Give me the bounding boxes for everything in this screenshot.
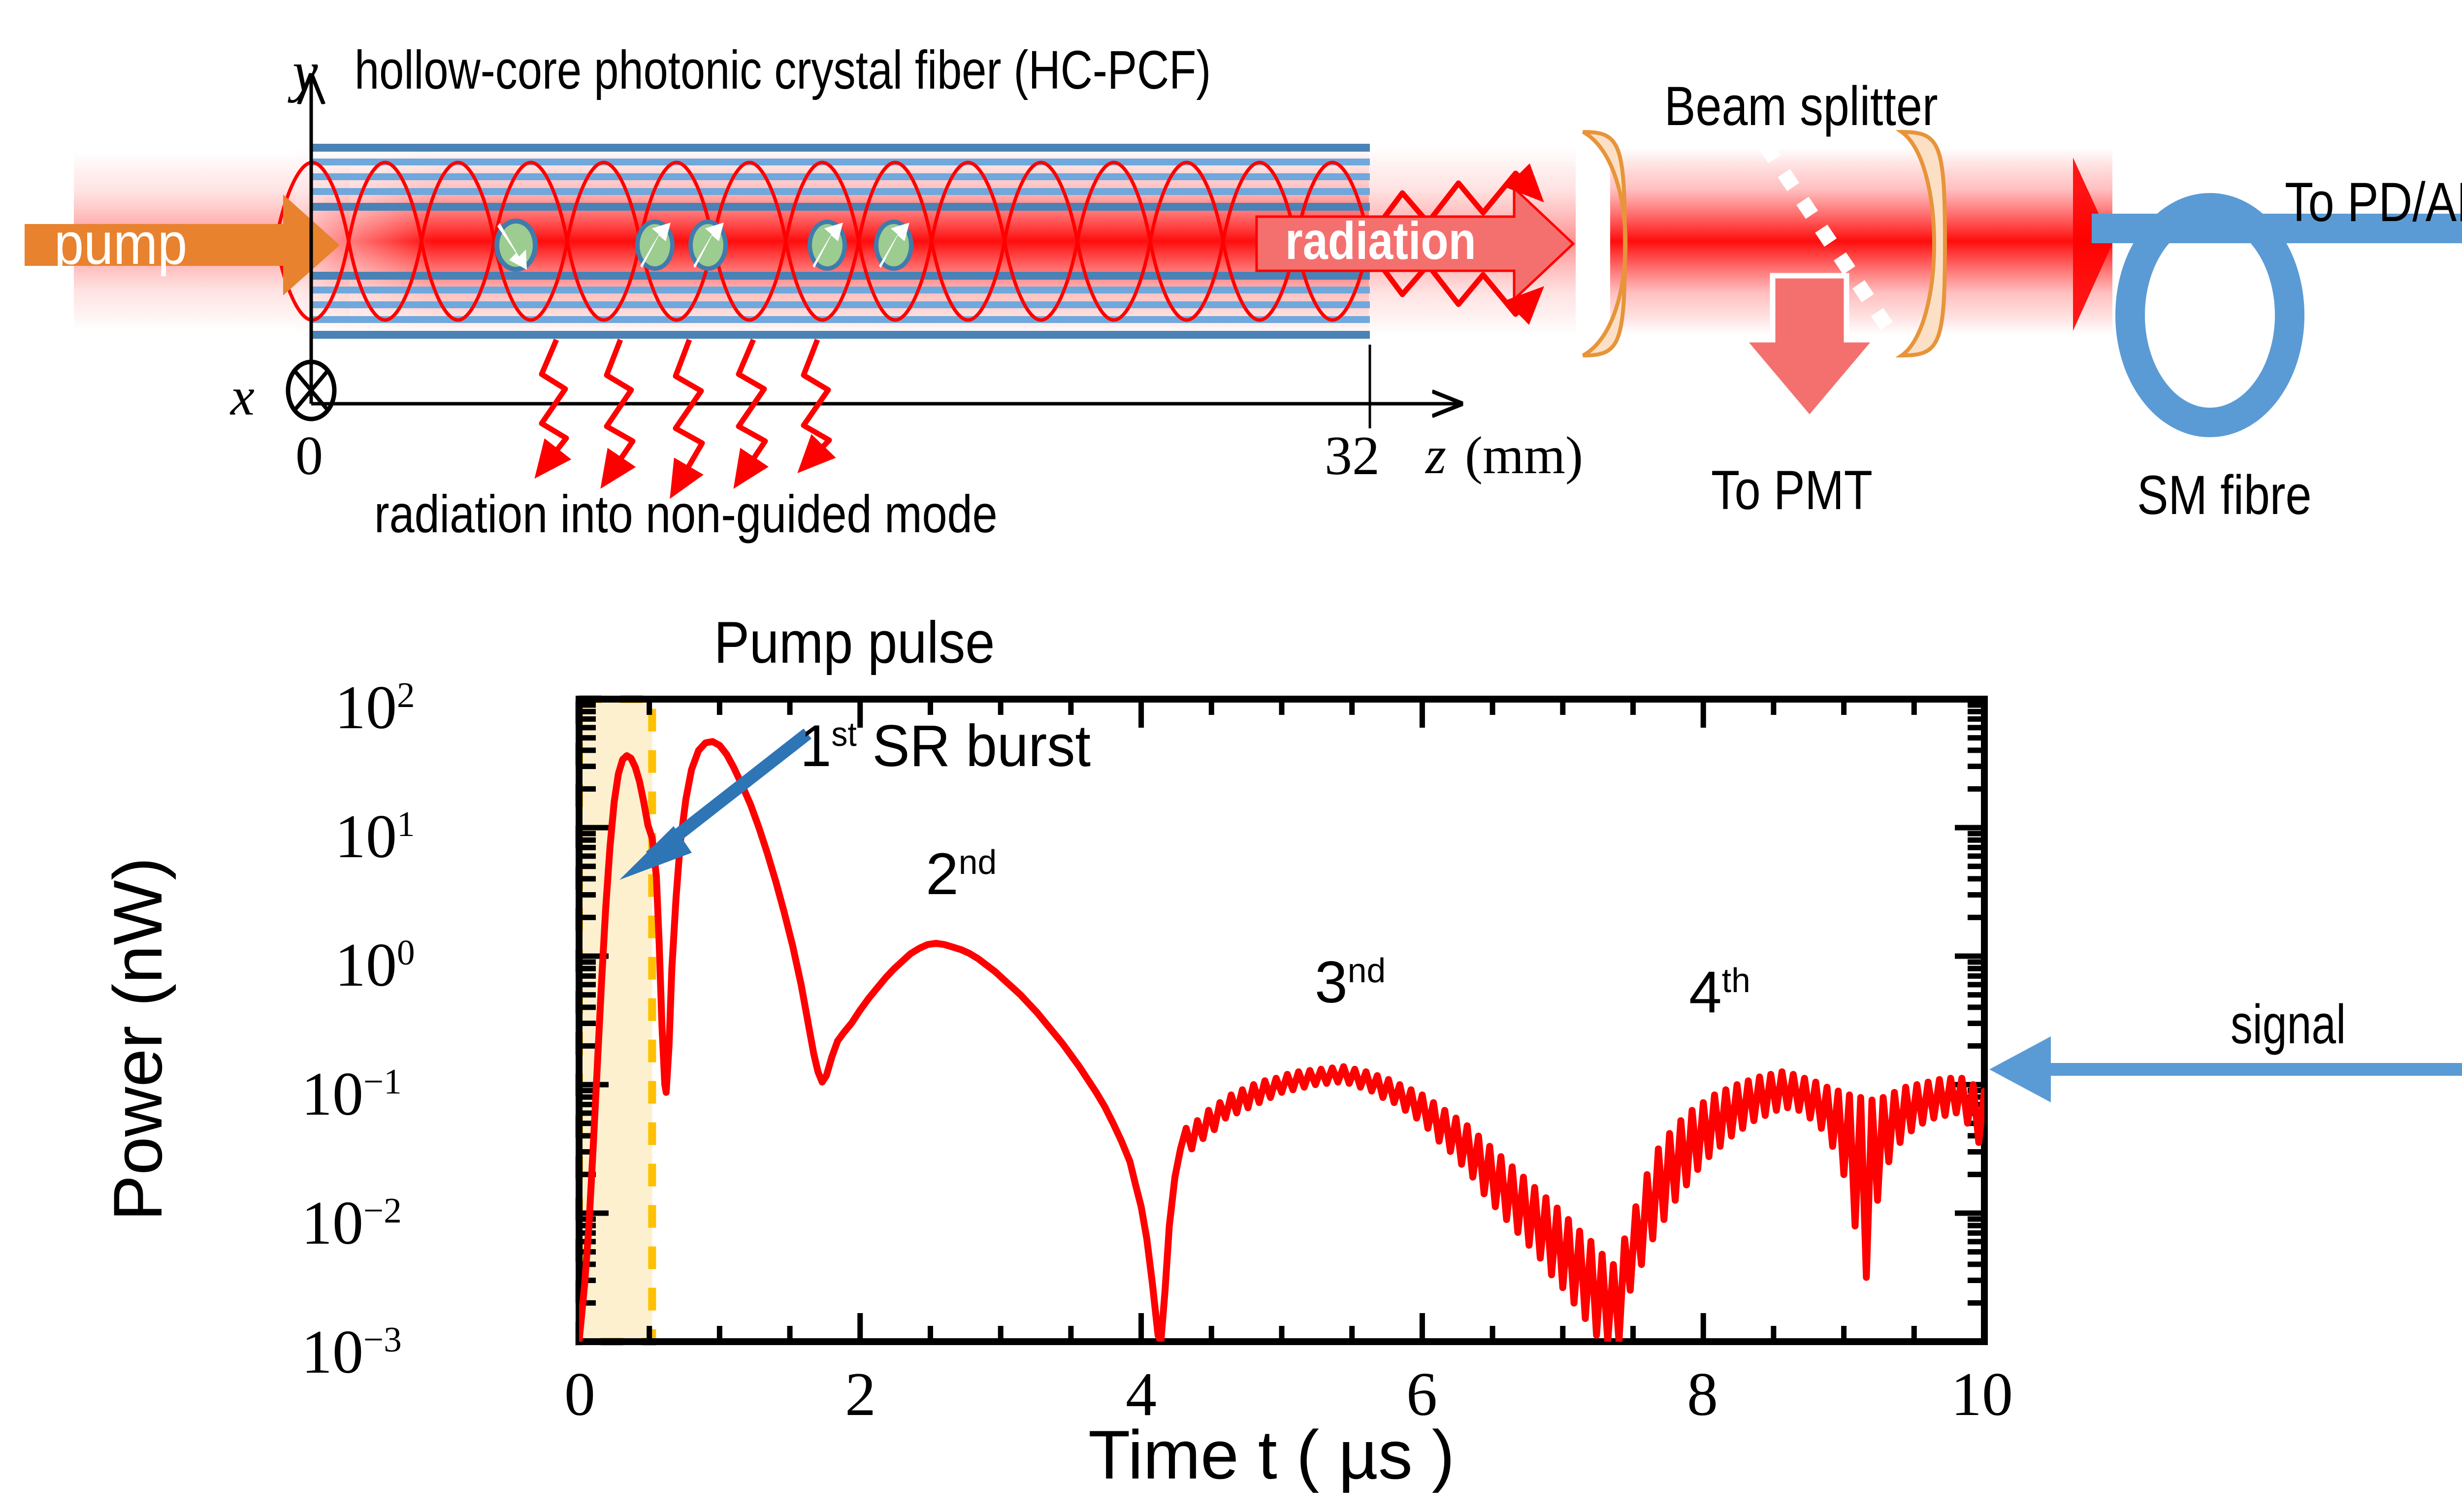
- x-tick-label-0: 0: [564, 1364, 595, 1426]
- x-tick-label-4: 8: [1687, 1364, 1718, 1426]
- beam-between-lenses: [1610, 148, 2112, 335]
- y-tick-label-1: 101: [335, 806, 415, 868]
- x-tick-label-5: 10: [1951, 1364, 2013, 1426]
- pump-arrow-label: pump: [54, 214, 187, 273]
- y-tick-mantissa: 10: [335, 674, 397, 742]
- y-tick-mantissa: 10: [301, 1189, 363, 1257]
- y-tick-exponent: −2: [363, 1190, 402, 1230]
- y-tick-exponent: −1: [363, 1062, 402, 1101]
- burst-ordinal-suffix: st: [831, 715, 856, 753]
- nonguided-radiation-label: radiation into non-guided mode: [374, 487, 998, 541]
- signal-arrow-label: signal: [2231, 997, 2346, 1052]
- burst-ordinal-suffix: th: [1722, 961, 1750, 999]
- y-tick-mantissa: 10: [301, 1060, 363, 1128]
- second-burst-annotation: 2nd: [926, 844, 997, 903]
- z-axis-unit-label: (mm): [1465, 429, 1583, 483]
- to-pmt-label: To PMT: [1711, 463, 1873, 518]
- beam-splitter-label: Beam splitter: [1664, 79, 1938, 134]
- plot-frame: [579, 699, 1984, 1342]
- nonguided-radiation-squiggles: [539, 340, 829, 492]
- burst-ordinal-base: 1: [800, 713, 831, 779]
- y-tick-mantissa: 10: [301, 1318, 363, 1386]
- first-burst-annotation: 1st SR burst: [800, 716, 1091, 775]
- pump-pulse-annotation: Pump pulse: [714, 613, 995, 672]
- chart-xlabel: Time t ( µs ): [1088, 1420, 1455, 1489]
- y-axis-label: y: [292, 43, 318, 100]
- y-tick-label-3: 10−1: [301, 1063, 402, 1126]
- sm-fibre-loop: [2092, 208, 2462, 422]
- burst-ordinal-base: 4: [1689, 959, 1722, 1025]
- y-tick-exponent: 1: [397, 804, 415, 844]
- y-tick-exponent: 2: [397, 675, 415, 715]
- burst-ordinal-base: 2: [926, 841, 959, 907]
- sm-fibre-label: SM fibre: [2137, 468, 2311, 523]
- burst-ordinal-rest: SR burst: [857, 713, 1091, 779]
- burst-ordinal-suffix: nd: [1348, 951, 1386, 990]
- y-tick-label-5: 10−3: [301, 1321, 402, 1383]
- x-axis-label: x: [230, 369, 255, 423]
- burst-ordinal-base: 3: [1315, 949, 1348, 1015]
- signal-arrow: [1989, 1036, 2462, 1102]
- data-trace: [579, 741, 1984, 1342]
- x-tick-label-1: 2: [845, 1364, 876, 1426]
- burst-ordinal-suffix: nd: [959, 843, 997, 881]
- z-axis-label: z: [1425, 429, 1446, 483]
- y-tick-label-2: 100: [335, 934, 415, 997]
- y-tick-label-4: 10−2: [301, 1192, 402, 1255]
- z-origin-label: 0: [295, 428, 323, 483]
- fourth-burst-annotation: 4th: [1689, 963, 1750, 1022]
- fiber-title-label: hollow-core photonic crystal fiber (HC-P…: [355, 43, 1211, 97]
- y-tick-exponent: 0: [397, 933, 415, 972]
- y-tick-mantissa: 10: [335, 803, 397, 871]
- y-tick-mantissa: 10: [335, 931, 397, 999]
- to-pd-apd-label: To PD/APD: [2285, 175, 2462, 230]
- radiation-arrow-label: radiation: [1285, 214, 1476, 267]
- chart-ylabel: Power (nW): [103, 876, 172, 1221]
- y-tick-exponent: −3: [363, 1319, 402, 1359]
- z-axis: [311, 345, 1460, 428]
- third-burst-annotation: 3nd: [1315, 953, 1386, 1012]
- y-tick-label-0: 102: [335, 677, 415, 739]
- axis-ticks: [579, 699, 1984, 1342]
- z-length-label: 32: [1325, 428, 1380, 483]
